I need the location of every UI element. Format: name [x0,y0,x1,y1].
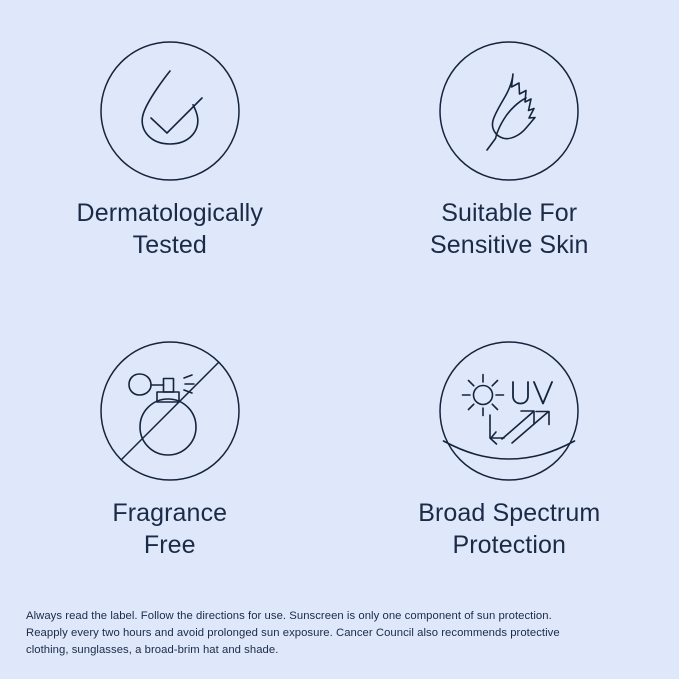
no-fragrance-bottle-icon [99,340,241,482]
feature-item-dermatologically-tested: Dermatologically Tested [0,0,340,300]
product-feature-panel: Dermatologically Tested Suitable For Sen… [0,0,679,679]
feather-icon [438,40,580,182]
droplet-check-icon [99,40,241,182]
disclaimer-text: Always read the label. Follow the direct… [26,608,566,658]
feature-label: Dermatologically Tested [77,198,263,262]
uv-protection-icon [438,340,580,482]
feature-label: Broad Spectrum Protection [418,498,600,562]
feature-label: Fragrance Free [112,498,227,562]
feature-item-fragrance-free: Fragrance Free [0,300,340,600]
feature-item-sensitive-skin: Suitable For Sensitive Skin [340,0,679,300]
feature-item-broad-spectrum: Broad Spectrum Protection [340,300,679,600]
feature-grid: Dermatologically Tested Suitable For Sen… [0,0,679,600]
feature-label: Suitable For Sensitive Skin [430,198,588,262]
